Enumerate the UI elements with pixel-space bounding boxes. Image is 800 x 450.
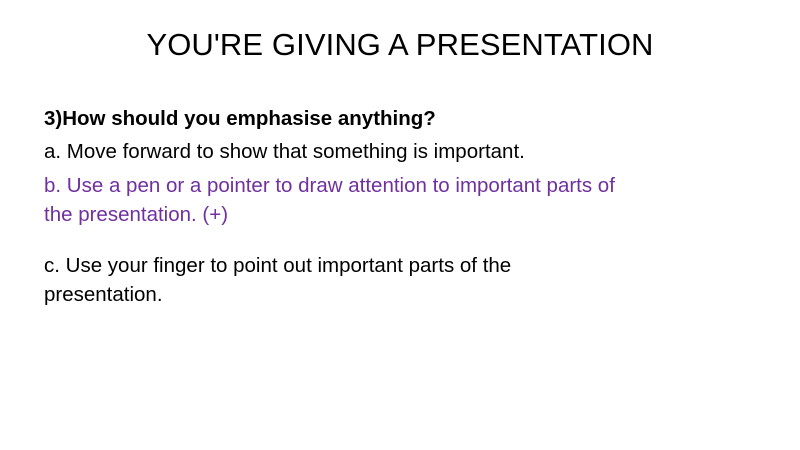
answer-option-a[interactable]: a. Move forward to show that something i… <box>44 137 754 166</box>
answer-option-c[interactable]: c. Use your finger to point out importan… <box>44 251 754 309</box>
answer-option-b[interactable]: b. Use a pen or a pointer to draw attent… <box>44 171 754 229</box>
presentation-slide: YOU'RE GIVING A PRESENTATION 3)How shoul… <box>0 0 800 450</box>
question-text: 3)How should you emphasise anything? <box>44 104 754 134</box>
page-title: YOU'RE GIVING A PRESENTATION <box>0 26 800 64</box>
answer-option-b-line1: b. Use a pen or a pointer to draw attent… <box>44 174 615 197</box>
answer-option-a-line1: a. Move forward to show that something i… <box>44 140 525 163</box>
answer-option-c-line2: presentation. <box>44 280 754 309</box>
answer-option-c-line1: c. Use your finger to point out importan… <box>44 254 511 277</box>
slide-body: 3)How should you emphasise anything? a. … <box>44 104 754 309</box>
answer-option-b-line2: the presentation. (+) <box>44 200 754 229</box>
